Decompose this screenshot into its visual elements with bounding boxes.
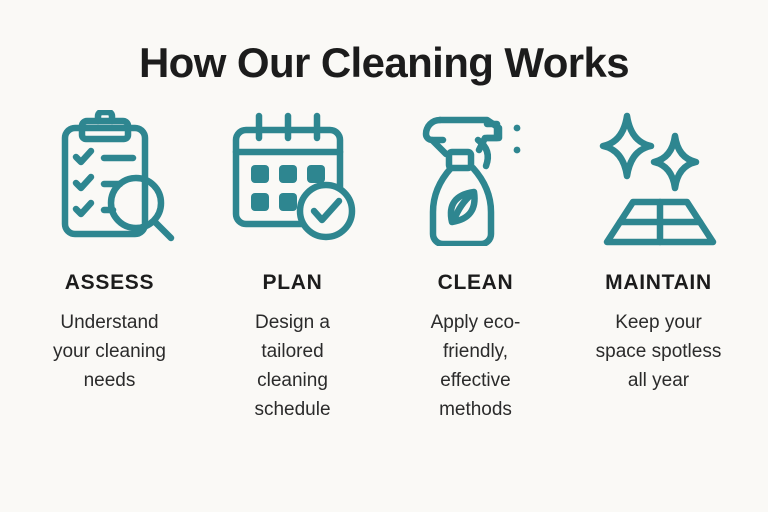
step-card-maintain: MAINTAIN Keep your space spotless all ye… (567, 108, 750, 395)
step-card-clean: CLEAN Apply eco- friendly, effective met… (384, 108, 567, 424)
page-title: How Our Cleaning Works (0, 0, 768, 86)
clipboard-magnifier-icon (43, 108, 177, 248)
steps-row: ASSESS Understand your cleaning needs (0, 108, 768, 424)
calendar-check-icon (226, 108, 360, 248)
step-heading-assess: ASSESS (65, 271, 154, 294)
step-card-assess: ASSESS Understand your cleaning needs (18, 108, 201, 395)
step-description-assess: Understand your cleaning needs (53, 308, 166, 395)
step-heading-plan: PLAN (263, 271, 323, 294)
step-description-clean: Apply eco- friendly, effective methods (431, 308, 521, 424)
step-description-plan: Design a tailored cleaning schedule (254, 308, 330, 424)
step-card-plan: PLAN Design a tailored cleaning schedule (201, 108, 384, 424)
infographic-root: How Our Cleaning Works (0, 0, 768, 512)
spray-bottle-leaf-icon (416, 108, 536, 248)
sparkle-floor-icon (589, 108, 729, 248)
step-heading-maintain: MAINTAIN (605, 271, 712, 294)
step-description-maintain: Keep your space spotless all year (596, 308, 722, 395)
step-heading-clean: CLEAN (438, 271, 514, 294)
